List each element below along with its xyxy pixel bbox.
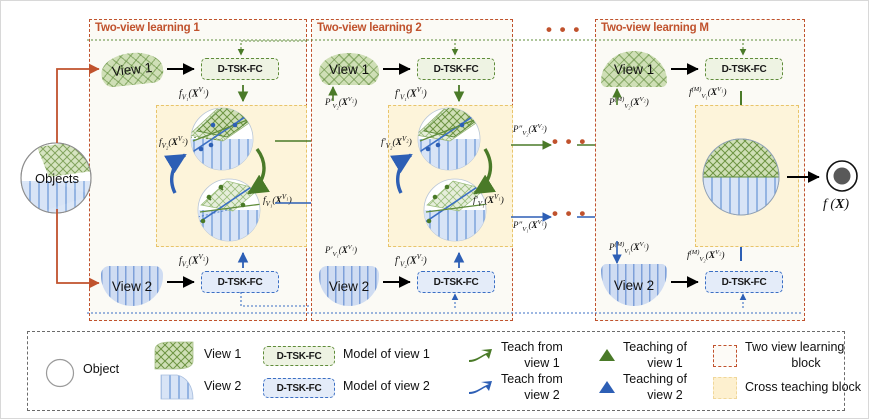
block-2-f-view1-formula: f′V₁(XV₁) bbox=[395, 86, 427, 101]
block-1-view2-label: View 2 bbox=[112, 279, 152, 294]
block-m-model2-label: D-TSK-FC bbox=[722, 277, 767, 288]
legend-view1-icon bbox=[153, 341, 197, 371]
legend-teach-view2-line1: Teach from bbox=[501, 373, 563, 386]
block-2-arrow-up-v2 bbox=[455, 250, 467, 272]
block-m-model-view1[interactable]: D-TSK-FC bbox=[705, 58, 783, 80]
legend-teach-view1-line2: view 1 bbox=[501, 357, 583, 370]
block-2-model2-label: D-TSK-FC bbox=[434, 277, 479, 288]
legend-teach-view2-arrow-icon bbox=[469, 381, 495, 397]
block-m-in-arrow-v2 bbox=[611, 241, 627, 269]
legend-teaching-view1-line2: view 1 bbox=[623, 357, 707, 370]
block-2-feedback-view1 bbox=[449, 39, 465, 61]
block-m-view1-arrow bbox=[671, 59, 705, 79]
block-m-f-view2-formula: f(M)V₂(XV₂) bbox=[687, 249, 725, 263]
block-1-model-view2[interactable]: D-TSK-FC bbox=[201, 271, 279, 293]
legend-model-view2-box: D-TSK-FC bbox=[263, 378, 335, 398]
block-1-arrow-up-v2 bbox=[239, 250, 251, 272]
block-m-model-view2[interactable]: D-TSK-FC bbox=[705, 271, 783, 293]
block-2-in-p-view1: P′V₁(XV₁) bbox=[325, 244, 357, 258]
legend-teach-view1-line1: Teach from bbox=[501, 341, 563, 354]
legend-teach-view1-arrow-icon bbox=[469, 349, 495, 365]
legend-teaching-view2-line1: Teaching of bbox=[623, 373, 687, 386]
block-m-f-view1-formula: f(M)V₁(XV₁) bbox=[689, 86, 727, 100]
block-2-view1-label: View 1 bbox=[329, 62, 369, 77]
block-1-view2-arrow bbox=[167, 276, 201, 296]
block-2-title: Two-view learning 2 bbox=[317, 22, 422, 34]
diagram-canvas: Two-view learning 1 View 1 D-TSK-FC fV₁(… bbox=[0, 0, 869, 419]
block-m-view2-label: View 2 bbox=[614, 278, 654, 293]
block-2-view1-arrow bbox=[383, 59, 417, 79]
objects-to-view1-arrow bbox=[49, 59, 113, 149]
block-1-view1-label: View 1 bbox=[111, 59, 153, 78]
legend-two-view-block-line2: block bbox=[745, 357, 867, 370]
block-1-f-view1-formula: fV₁(XV₁) bbox=[179, 86, 209, 101]
block-2-f-view2-formula: f′V₂(XV₂) bbox=[395, 253, 427, 268]
legend-view1-label: View 1 bbox=[204, 348, 241, 361]
output-label: f (X) bbox=[823, 197, 849, 213]
legend-object-icon bbox=[45, 358, 77, 388]
block-m-result-circle bbox=[701, 137, 785, 217]
block-m-title: Two-view learning M bbox=[601, 22, 709, 34]
block-m-view1-label: View 1 bbox=[614, 62, 654, 77]
block-m-model1-label: D-TSK-FC bbox=[722, 64, 767, 75]
legend-model-v2-text: D-TSK-FC bbox=[277, 383, 322, 394]
block-1-model-view1[interactable]: D-TSK-FC bbox=[201, 58, 279, 80]
legend-model-view1-box: D-TSK-FC bbox=[263, 346, 335, 366]
block-1-view1-arrow bbox=[167, 59, 201, 79]
legend-panel bbox=[27, 331, 845, 411]
legend-object-label: Object bbox=[83, 363, 119, 376]
block-1-model1-label: D-TSK-FC bbox=[218, 64, 263, 75]
block-1-cross-f-view2: fV₂(XV₂) bbox=[159, 135, 188, 150]
block-m-feedback-view1 bbox=[737, 39, 753, 61]
output-arrow bbox=[787, 167, 829, 187]
legend-teaching-view1-triangle-icon bbox=[599, 349, 619, 365]
legend-cross-block-swatch bbox=[713, 377, 737, 399]
legend-view2-icon bbox=[159, 373, 199, 403]
block-m-in-arrow-v1 bbox=[611, 87, 627, 111]
block-2-cross-f-view1: f′V₁(XV₁) bbox=[473, 193, 504, 208]
top-dotted-connector bbox=[87, 38, 807, 42]
block-1-feedback-view1 bbox=[233, 39, 311, 61]
bottom-dotted-connector bbox=[87, 311, 807, 315]
objects-to-view2-arrow bbox=[49, 209, 113, 299]
block-2-in-arrow-v1 bbox=[327, 85, 343, 107]
legend-two-view-block-line1: Two view learning bbox=[745, 341, 844, 354]
block-1-f-view2-formula: fV₂(XV₂) bbox=[179, 253, 209, 268]
block-2-view2-arrow bbox=[383, 276, 417, 296]
block-1-model2-label: D-TSK-FC bbox=[218, 277, 263, 288]
legend-view2-label: View 2 bbox=[204, 380, 241, 393]
block-2-arrow-down-v1 bbox=[455, 85, 467, 107]
top-ellipsis: • • • bbox=[546, 20, 581, 40]
block-m-view2-arrow bbox=[671, 276, 705, 296]
block-2-view1-shape: View 1 bbox=[319, 53, 379, 85]
legend-teaching-view2-line2: view 2 bbox=[623, 389, 707, 402]
block-1-title: Two-view learning 1 bbox=[95, 22, 200, 34]
legend-model-view1-desc: Model of view 1 bbox=[343, 348, 430, 361]
legend-cross-block-label: Cross teaching block bbox=[745, 381, 861, 394]
block-1-arrow-down-v1 bbox=[239, 85, 251, 107]
legend-teaching-view1-line1: Teaching of bbox=[623, 341, 687, 354]
objects-label: Objects bbox=[24, 171, 90, 186]
output-dot-icon bbox=[825, 159, 861, 195]
blue-ellipsis: • • • bbox=[552, 204, 587, 224]
legend-teaching-view2-triangle-icon bbox=[599, 381, 619, 397]
block-2-out-p-view1: P″V₁(XV₁) bbox=[513, 219, 547, 233]
block-2-out-p-view2: P″V₂(XV₂) bbox=[513, 123, 547, 137]
legend-model-v1-text: D-TSK-FC bbox=[277, 351, 322, 362]
block-2-model-view1[interactable]: D-TSK-FC bbox=[417, 58, 495, 80]
legend-teach-view2-line2: view 2 bbox=[501, 389, 583, 402]
legend-two-view-block-swatch bbox=[713, 345, 737, 367]
block-2-model-view2[interactable]: D-TSK-FC bbox=[417, 271, 495, 293]
legend-model-view2-desc: Model of view 2 bbox=[343, 380, 430, 393]
block-2-model1-label: D-TSK-FC bbox=[434, 64, 479, 75]
block-2-view2-label: View 2 bbox=[329, 279, 369, 294]
block-2-cross-f-view2: f′V₂(XV₂) bbox=[381, 135, 412, 150]
green-ellipsis: • • • bbox=[552, 132, 587, 152]
